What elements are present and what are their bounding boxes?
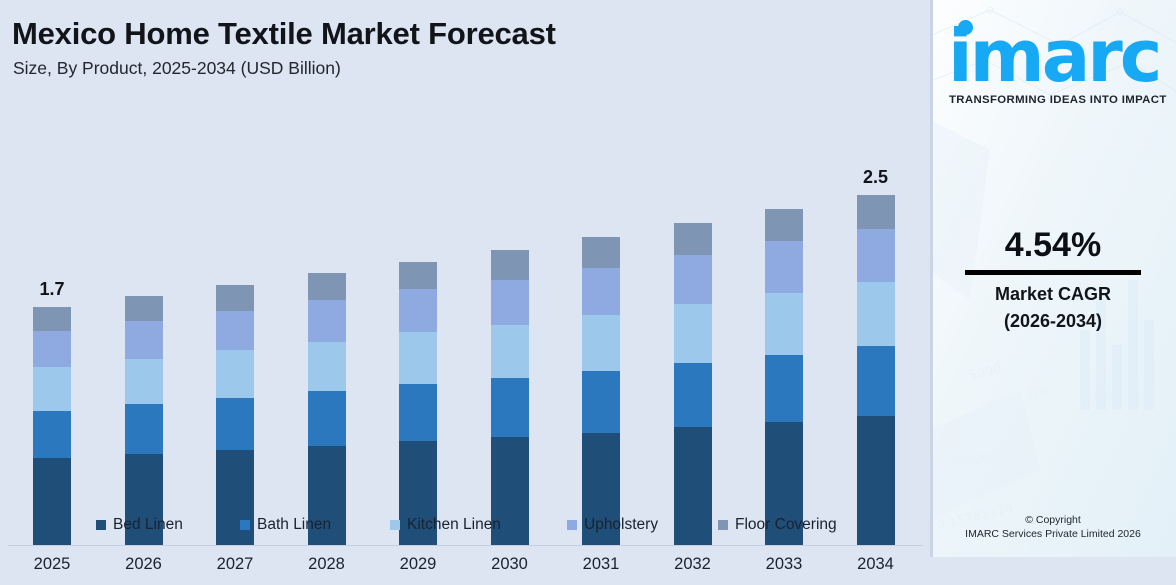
cagr-label: Market CAGR xyxy=(930,284,1176,305)
bar-segment-upholstery xyxy=(491,280,529,325)
x-axis-label-2025: 2025 xyxy=(17,555,87,574)
bar-segment-upholstery xyxy=(216,311,254,350)
x-axis-label-2030: 2030 xyxy=(475,555,545,574)
legend-item-upholstery[interactable]: Upholstery xyxy=(567,516,658,534)
bar-segment-upholstery xyxy=(765,241,803,293)
bar-segment-floor-covering xyxy=(857,195,895,229)
logo-dot-icon xyxy=(958,20,973,35)
bar-2026 xyxy=(125,296,163,545)
bar-2030 xyxy=(491,250,529,545)
logo-tagline: TRANSFORMING IDEAS INTO IMPACT xyxy=(949,94,1167,106)
bar-segment-floor-covering xyxy=(765,209,803,241)
bar-segment-kitchen-linen xyxy=(399,332,437,384)
svg-text:5000: 5000 xyxy=(967,361,1003,384)
bar-segment-upholstery xyxy=(674,255,712,304)
bar-segment-upholstery xyxy=(857,229,895,282)
bar-segment-kitchen-linen xyxy=(765,293,803,355)
legend-item-bath-linen[interactable]: Bath Linen xyxy=(240,516,331,534)
bar-total-label-2034: 2.5 xyxy=(846,167,906,188)
cagr-underline xyxy=(965,270,1141,275)
bar-segment-bath-linen xyxy=(399,384,437,441)
bar-segment-floor-covering xyxy=(33,307,71,331)
bar-segment-bath-linen xyxy=(857,346,895,416)
x-axis-label-2029: 2029 xyxy=(383,555,453,574)
bar-segment-upholstery xyxy=(308,300,346,342)
x-axis-labels: 2025202620272028202920302031203220332034 xyxy=(0,555,930,585)
bar-2025 xyxy=(33,307,71,545)
bar-segment-upholstery xyxy=(33,331,71,367)
bar-2032 xyxy=(674,223,712,545)
bar-segment-bath-linen xyxy=(582,371,620,433)
bar-segment-kitchen-linen xyxy=(33,367,71,410)
cagr-period: (2026-2034) xyxy=(930,311,1176,332)
bar-2031 xyxy=(582,237,620,545)
bar-segment-floor-covering xyxy=(582,237,620,268)
x-axis-label-2033: 2033 xyxy=(749,555,819,574)
bar-segment-kitchen-linen xyxy=(216,350,254,398)
bar-segment-kitchen-linen xyxy=(674,304,712,363)
legend-swatch-icon xyxy=(390,520,400,530)
cagr-value: 4.54% xyxy=(930,226,1176,265)
bar-segment-floor-covering xyxy=(216,285,254,312)
legend-item-floor-covering[interactable]: Floor Covering xyxy=(718,516,837,534)
bar-segment-kitchen-linen xyxy=(857,282,895,346)
bar-segment-upholstery xyxy=(399,289,437,332)
bar-segment-floor-covering xyxy=(399,262,437,289)
bar-segment-bath-linen xyxy=(125,404,163,454)
bar-segment-upholstery xyxy=(125,321,163,359)
legend-label: Upholstery xyxy=(584,516,658,534)
legend-label: Bed Linen xyxy=(113,516,183,534)
bar-segment-bath-linen xyxy=(491,378,529,437)
legend-swatch-icon xyxy=(567,520,577,530)
infographic-root: Mexico Home Textile Market Forecast Size… xyxy=(0,0,1176,557)
legend-item-kitchen-linen[interactable]: Kitchen Linen xyxy=(390,516,501,534)
bar-segment-bath-linen xyxy=(33,411,71,459)
svg-text:0.0: 0.0 xyxy=(1027,384,1051,404)
legend-label: Bath Linen xyxy=(257,516,331,534)
bar-2034 xyxy=(857,195,895,545)
bar-segment-kitchen-linen xyxy=(491,325,529,378)
x-axis-label-2032: 2032 xyxy=(658,555,728,574)
bar-2027 xyxy=(216,285,254,545)
logo-wordmark: imarc xyxy=(948,20,1159,92)
bar-segment-floor-covering xyxy=(125,296,163,321)
page-subtitle: Size, By Product, 2025-2034 (USD Billion… xyxy=(13,58,341,79)
bar-2028 xyxy=(308,273,346,545)
legend-label: Floor Covering xyxy=(735,516,837,534)
bar-segment-bath-linen xyxy=(216,398,254,450)
copyright-line-2: IMARC Services Private Limited 2026 xyxy=(930,527,1176,541)
bar-segment-floor-covering xyxy=(674,223,712,255)
x-axis-label-2028: 2028 xyxy=(292,555,362,574)
x-axis-label-2031: 2031 xyxy=(566,555,636,574)
bar-segment-kitchen-linen xyxy=(308,342,346,391)
bar-segment-bath-linen xyxy=(308,391,346,446)
chart-panel: Mexico Home Textile Market Forecast Size… xyxy=(0,0,930,557)
bar-2033 xyxy=(765,209,803,545)
bar-segment-upholstery xyxy=(582,268,620,316)
legend-swatch-icon xyxy=(718,520,728,530)
legend-swatch-icon xyxy=(240,520,250,530)
legend-label: Kitchen Linen xyxy=(407,516,501,534)
x-axis-label-2027: 2027 xyxy=(200,555,270,574)
brand-panel: 5000 0.0 1 2 3 0932048 0.15783214 imarc … xyxy=(930,0,1176,557)
bar-total-label-2025: 1.7 xyxy=(22,279,82,300)
chart-legend: Bed LinenBath LinenKitchen LinenUpholste… xyxy=(0,516,930,548)
bar-2029 xyxy=(399,262,437,545)
bar-segment-bath-linen xyxy=(765,355,803,422)
page-title: Mexico Home Textile Market Forecast xyxy=(12,16,556,52)
bar-segment-bath-linen xyxy=(674,363,712,427)
imarc-logo: imarc TRANSFORMING IDEAS INTO IMPACT xyxy=(930,6,1176,110)
stacked-bar-chart: 1.72.5 202520262027202820292030203120322… xyxy=(0,85,930,465)
bar-segment-floor-covering xyxy=(308,273,346,300)
bar-segment-kitchen-linen xyxy=(125,359,163,404)
bar-segment-floor-covering xyxy=(491,250,529,281)
legend-item-bed-linen[interactable]: Bed Linen xyxy=(96,516,183,534)
bar-segment-kitchen-linen xyxy=(582,315,620,371)
copyright-line-1: © Copyright xyxy=(930,513,1176,527)
x-axis-label-2026: 2026 xyxy=(109,555,179,574)
legend-swatch-icon xyxy=(96,520,106,530)
x-axis-label-2034: 2034 xyxy=(841,555,911,574)
copyright-notice: © Copyright IMARC Services Private Limit… xyxy=(930,513,1176,541)
